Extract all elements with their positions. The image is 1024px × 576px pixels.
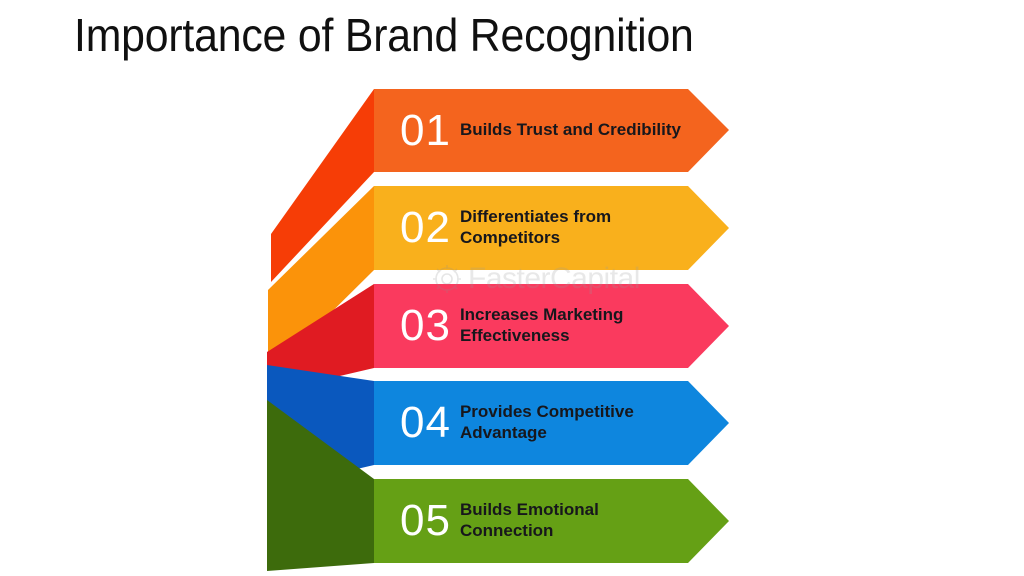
front-faces-group xyxy=(374,89,729,563)
chevron-face-row-2[interactable] xyxy=(374,186,729,270)
chevron-face-row-4[interactable] xyxy=(374,381,729,465)
chevron-face-row-5[interactable] xyxy=(374,479,729,563)
brand-recognition-diagram: FasterCapital 01 Builds Trust and Credib… xyxy=(0,0,1024,576)
chevron-face-row-1[interactable] xyxy=(374,89,729,172)
diagram-shapes xyxy=(0,0,1024,576)
chevron-face-row-3[interactable] xyxy=(374,284,729,368)
slide-canvas: Importance of Brand Recognition xyxy=(0,0,1024,576)
side-faces-group xyxy=(267,89,374,571)
